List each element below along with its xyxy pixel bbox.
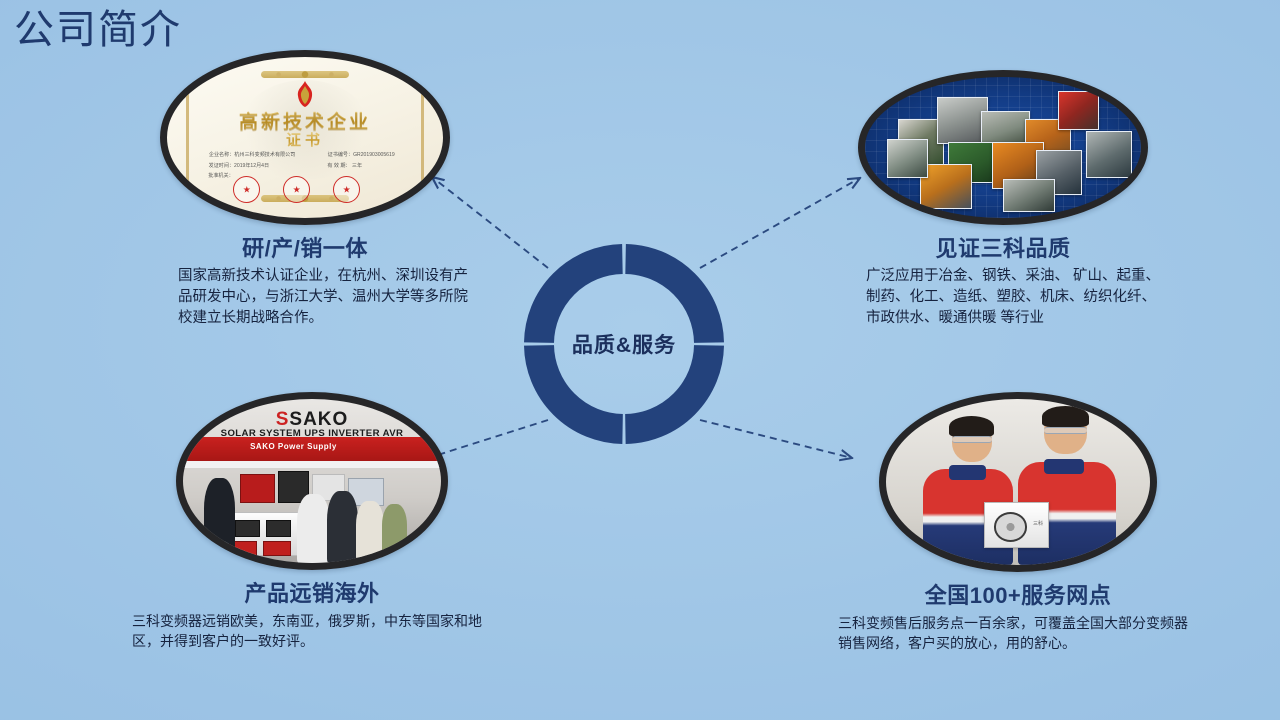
- certificate-ornament-top: [261, 71, 349, 78]
- official-seal-icon: [283, 176, 310, 203]
- certificate-field-validity: 有 效 期： 三年: [327, 162, 362, 169]
- product-label: 三科: [1033, 520, 1043, 527]
- oval-wrap-bottom-right: 三科: [879, 392, 1157, 572]
- flame-logo-icon: [294, 81, 316, 107]
- safety-glasses-icon: [952, 436, 992, 443]
- booth-white-band: [183, 461, 441, 468]
- booth-artwork: SSAKO SOLAR SYSTEM UPS INVERTER AVR SAKO…: [183, 399, 441, 563]
- technician-hair: [949, 416, 994, 438]
- official-seal-icon: [233, 176, 260, 203]
- oval-wrap-bottom-left: SSAKO SOLAR SYSTEM UPS INVERTER AVR SAKO…: [176, 392, 448, 570]
- body-bottom-left: 三科变频器远销欧美，东南亚，俄罗斯，中东等国家和地区，并得到客户的一致好评。: [132, 611, 492, 652]
- booth-visitor: [382, 504, 408, 556]
- collage-photo: [1086, 131, 1132, 178]
- collage-artwork: [865, 77, 1141, 218]
- booth-visitor: [356, 501, 384, 560]
- certificate-subtitle: 证书: [167, 129, 443, 150]
- booth-counter-product: [235, 520, 260, 537]
- quadrant-top-right: 见证三科品质 广泛应用于冶金、钢铁、采油、 矿山、起重、制药、化工、造纸、塑胶、…: [838, 70, 1168, 329]
- certificate-image[interactable]: 高新技术企业 证书 企业名称：杭州三科变频技术有限公司 证书编号：GR20190…: [160, 50, 450, 225]
- oval-wrap-top-left: 高新技术企业 证书 企业名称：杭州三科变频技术有限公司 证书编号：GR20190…: [160, 50, 450, 225]
- technician-collar: [949, 465, 986, 480]
- booth-visitor: [297, 494, 331, 563]
- product-box: 三科: [984, 502, 1049, 549]
- certificate-field-issue: 发证时间：2019年12月4日: [209, 162, 269, 169]
- booth-counter-product: [263, 541, 291, 556]
- certificate-field-authority: 批准机关：: [209, 172, 234, 179]
- collage-photo: [920, 164, 972, 208]
- certificate-seals: [233, 176, 360, 203]
- collage-photo: [1003, 179, 1055, 212]
- certificate-field-company: 企业名称：杭州三科变频技术有限公司: [209, 151, 295, 158]
- certificate-field-number: 证书编号：GR201903005619: [328, 151, 395, 158]
- heading-bottom-right: 全国100+服务网点: [838, 578, 1198, 610]
- booth-counter-product: [266, 520, 291, 537]
- technician-collar: [1044, 459, 1084, 474]
- body-top-right: 广泛应用于冶金、钢铁、采油、 矿山、起重、制药、化工、造纸、塑胶、机床、纺织化纤…: [838, 266, 1168, 329]
- heading-top-right: 见证三科品质: [838, 231, 1168, 263]
- collage-photo: [887, 139, 928, 178]
- official-seal-icon: [333, 176, 360, 203]
- center-ring: 品质&服务: [518, 238, 730, 450]
- quadrant-top-left: 高新技术企业 证书 企业名称：杭州三科变频技术有限公司 证书编号：GR20190…: [140, 50, 470, 329]
- booth-visitor: [327, 491, 358, 563]
- heading-top-left: 研/产/销一体: [140, 231, 470, 263]
- collage-photo: [1058, 91, 1099, 130]
- quadrant-bottom-right: 三科 全国100+服务网点 三科变频售后服务点一百余家，可覆盖全国大部分变频器销…: [838, 392, 1198, 654]
- technicians-artwork: 三科: [886, 399, 1150, 565]
- technician-hair: [1042, 406, 1090, 428]
- service-technicians-image[interactable]: 三科: [879, 392, 1157, 572]
- booth-brand-mark-icon: S: [276, 409, 290, 430]
- booth-display-box: [240, 474, 276, 502]
- booth-visitor: [204, 478, 235, 553]
- industry-collage-image[interactable]: [858, 70, 1148, 225]
- slide-canvas: 公司简介: [0, 0, 1280, 720]
- booth-subbrand: SAKO Power Supply: [250, 442, 337, 451]
- body-bottom-right: 三科变频售后服务点一百余家，可覆盖全国大部分变频器销售网络，客户买的放心，用的舒…: [838, 613, 1198, 654]
- heading-bottom-left: 产品远销海外: [132, 576, 492, 608]
- quadrant-bottom-left: SSAKO SOLAR SYSTEM UPS INVERTER AVR SAKO…: [132, 392, 492, 652]
- oval-wrap-top-right: [858, 70, 1148, 225]
- product-fan-icon: [994, 512, 1027, 541]
- exhibition-booth-image[interactable]: SSAKO SOLAR SYSTEM UPS INVERTER AVR SAKO…: [176, 392, 448, 570]
- body-top-left: 国家高新技术认证企业，在杭州、深圳设有产品研发中心，与浙江大学、温州大学等多所院…: [140, 266, 470, 329]
- booth-brand-text: SAKO: [289, 409, 348, 430]
- page-title: 公司简介: [14, 6, 182, 54]
- booth-tagline: SOLAR SYSTEM UPS INVERTER AVR: [183, 428, 441, 439]
- safety-glasses-icon: [1044, 427, 1086, 434]
- certificate-artwork: 高新技术企业 证书 企业名称：杭州三科变频技术有限公司 证书编号：GR20190…: [167, 57, 443, 218]
- center-ring-label: 品质&服务: [518, 238, 730, 450]
